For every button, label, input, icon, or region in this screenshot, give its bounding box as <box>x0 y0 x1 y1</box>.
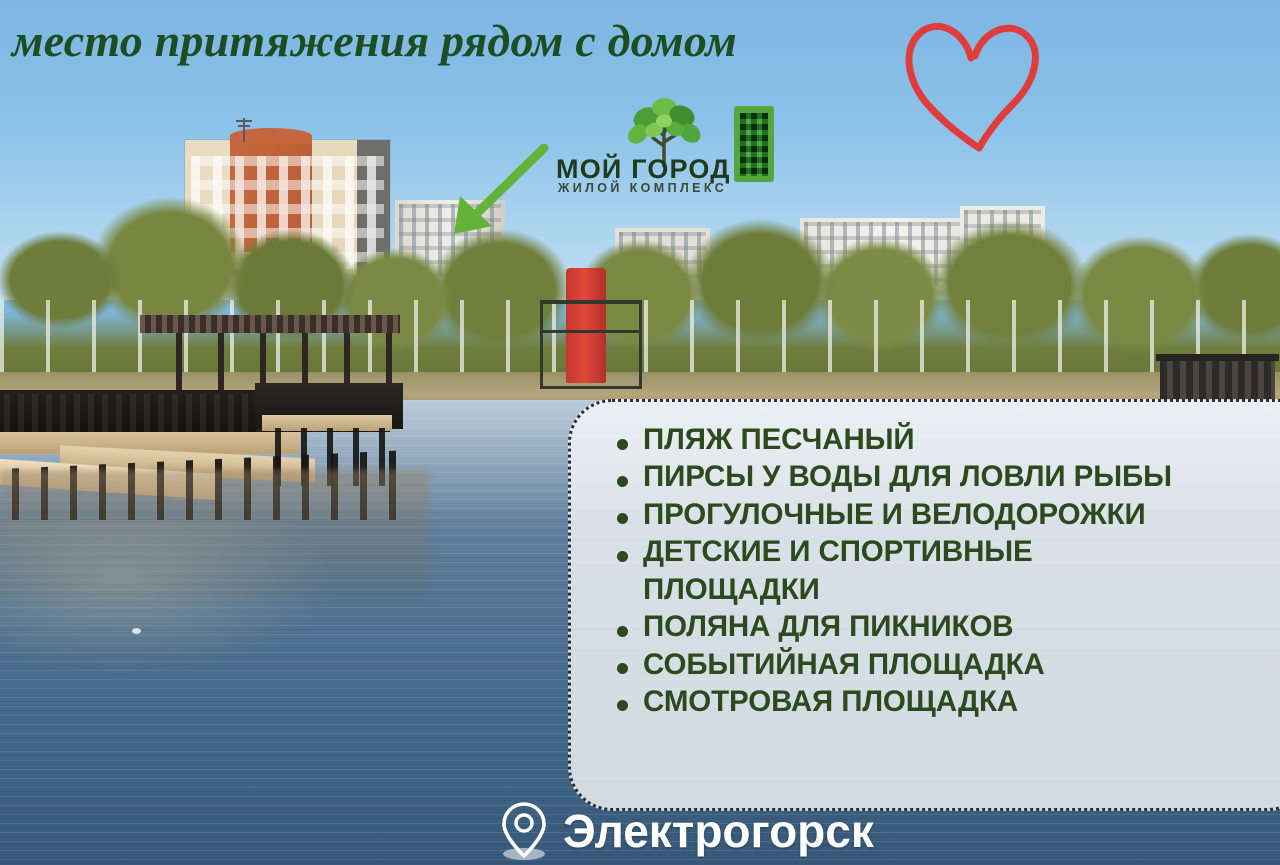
feature-item: ПЛОЩАДКИ <box>599 572 1280 608</box>
page-title: место притяжения рядом с домом <box>12 18 737 64</box>
feature-item: ПРОГУЛОЧНЫЕ И ВЕЛОДОРОЖКИ <box>599 497 1280 533</box>
building-windows <box>740 113 768 176</box>
feature-item: ПОЛЯНА ДЛЯ ПИКНИКОВ <box>599 609 1280 645</box>
pergola-roof <box>140 315 400 333</box>
sun-glare <box>0 520 560 760</box>
down-left-arrow-icon <box>440 140 560 240</box>
logo-subtitle: ЖИЛОЙ КОМПЛЕКС <box>558 181 727 195</box>
feature-item: ПИРСЫ У ВОДЫ ДЛЯ ЛОВЛИ РЫБЫ <box>599 459 1280 495</box>
floating-debris <box>132 628 141 634</box>
playground-frame <box>540 300 642 389</box>
building-icon <box>734 106 774 182</box>
promo-poster: место притяжения рядом с домом МОЙ ГОРОД… <box>0 0 1280 865</box>
heart-icon <box>895 12 1045 152</box>
roof-antenna <box>243 118 245 142</box>
features-panel: ПЛЯЖ ПЕСЧАНЫЙПИРСЫ У ВОДЫ ДЛЯ ЛОВЛИ РЫБЫ… <box>568 399 1280 811</box>
features-list: ПЛЯЖ ПЕСЧАНЫЙПИРСЫ У ВОДЫ ДЛЯ ЛОВЛИ РЫБЫ… <box>599 422 1280 720</box>
feature-item: ПЛЯЖ ПЕСЧАНЫЙ <box>599 422 1280 458</box>
location-name: Электрогорск <box>563 808 874 854</box>
map-pin-icon <box>497 800 551 862</box>
feature-item: СМОТРОВАЯ ПЛОЩАДКА <box>599 684 1280 720</box>
feature-item: ДЕТСКИЕ И СПОРТИВНЫЕ <box>599 534 1280 570</box>
feature-item: СОБЫТИЙНАЯ ПЛОЩАДКА <box>599 647 1280 683</box>
location-bar: Электрогорск <box>497 800 874 862</box>
logo: МОЙ ГОРОД ЖИЛОЙ КОМПЛЕКС <box>548 98 788 202</box>
